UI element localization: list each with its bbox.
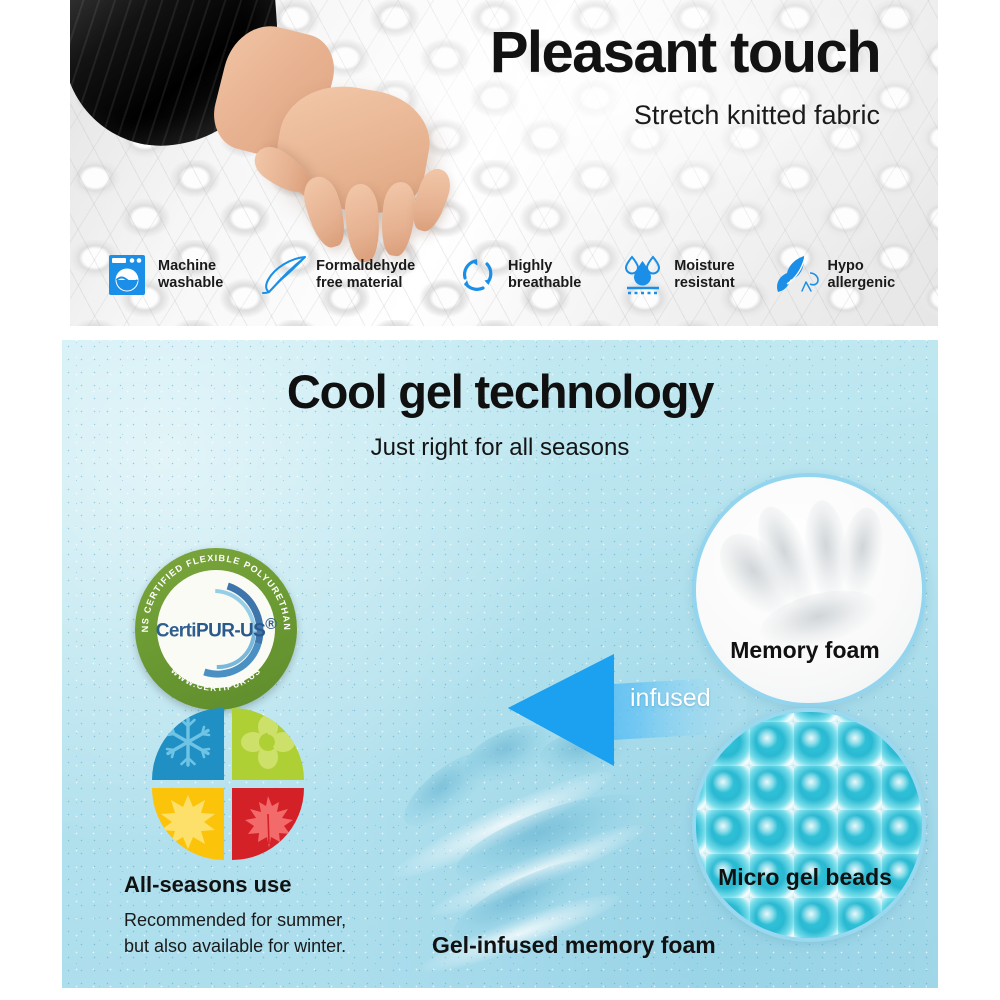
infused-label: infused xyxy=(630,684,711,713)
feature-label: Highly breathable xyxy=(508,258,581,292)
snowflake-icon xyxy=(161,715,215,774)
feature-label: Moisture resistant xyxy=(674,258,734,292)
feature-machine-washable: Machine washable xyxy=(104,252,256,298)
gel-infused-memory-foam-label: Gel-infused memory foam xyxy=(432,932,716,959)
recycle-arrows-icon xyxy=(454,252,500,298)
flower-icon xyxy=(240,714,296,775)
feature-label: Machine washable xyxy=(158,258,223,292)
micro-gel-beads-label: Micro gel beads xyxy=(692,864,918,891)
memory-foam-circle xyxy=(692,473,926,707)
feature-moisture-resistant: Moisture resistant xyxy=(620,252,767,298)
badge-wordmark-suffix: PUR-US xyxy=(196,620,265,641)
cool-gel-technology-panel: Cool gel technology Just right for all s… xyxy=(62,340,938,988)
feature-highly-breathable: Highly breathable xyxy=(454,252,614,298)
feather-icon xyxy=(262,252,308,298)
feature-formaldehyde-free: Formaldehyde free material xyxy=(262,252,448,298)
memory-foam-label: Memory foam xyxy=(692,637,918,664)
badge-inner-disc: CertiPUR-US® xyxy=(157,570,275,688)
leaves-butterfly-icon xyxy=(774,252,820,298)
certipur-us-badge: CONTAINS CERTIFIED FLEXIBLE POLYURETHANE… xyxy=(135,548,297,710)
pleasant-touch-panel: Pleasant touch Stretch knitted fabric Ma… xyxy=(70,0,938,326)
season-quadrant-summer xyxy=(152,788,224,860)
all-seasons-title: All-seasons use xyxy=(124,872,292,898)
feature-label: Hypo allergenic xyxy=(828,258,896,292)
maple-leaf-icon xyxy=(241,794,295,855)
feature-hypo-allergenic: Hypo allergenic xyxy=(774,252,929,298)
foam-finger-imprint xyxy=(836,505,888,598)
micro-gel-beads-circle xyxy=(692,708,926,942)
section-title: Cool gel technology xyxy=(62,368,938,415)
all-seasons-wheel xyxy=(152,708,304,860)
feature-strip: Machine washable Formaldehyde free mater… xyxy=(104,252,928,298)
sun-icon xyxy=(160,794,216,855)
badge-registered-mark: ® xyxy=(265,616,276,633)
page-title: Pleasant touch xyxy=(490,24,880,82)
badge-wordmark-prefix: Certi xyxy=(156,620,196,641)
feature-label: Formaldehyde free material xyxy=(316,258,415,292)
badge-wordmark: CertiPUR-US® xyxy=(156,616,277,642)
gel-bead-grid-offset xyxy=(692,708,926,942)
water-droplets-icon xyxy=(620,252,666,298)
season-quadrant-spring xyxy=(232,708,304,780)
washing-machine-icon xyxy=(104,252,150,298)
season-quadrant-autumn xyxy=(232,788,304,860)
season-quadrant-winter xyxy=(152,708,224,780)
page-subtitle: Stretch knitted fabric xyxy=(634,100,880,131)
memory-foam-handprint xyxy=(712,484,901,656)
section-subtitle: Just right for all seasons xyxy=(62,434,938,462)
all-seasons-description: Recommended for summer, but also availab… xyxy=(124,908,346,959)
